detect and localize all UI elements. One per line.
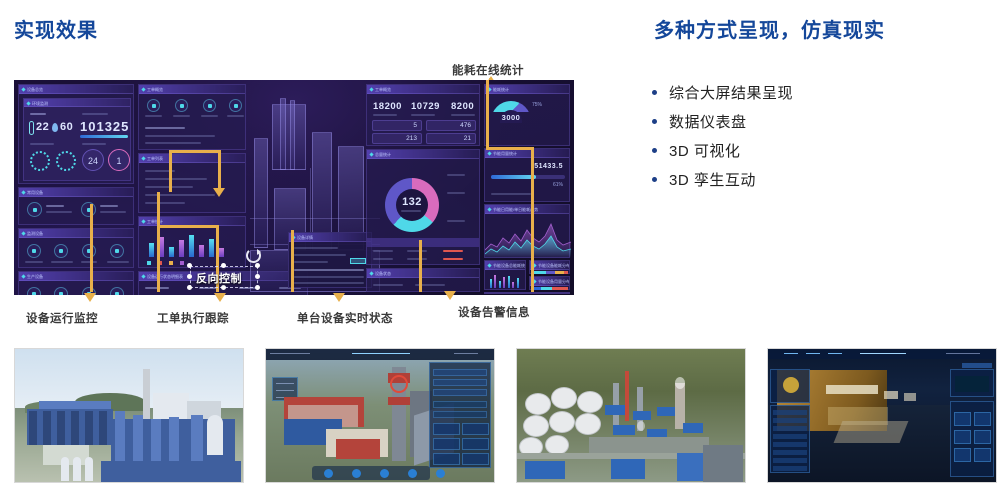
subtable-cell — [407, 250, 427, 252]
refresh-icon[interactable] — [246, 248, 261, 263]
twin-title — [352, 353, 410, 354]
thumbnail-aerial-refinery[interactable] — [516, 348, 746, 483]
subtable-cell — [373, 258, 393, 260]
left-list-panel[interactable] — [770, 405, 810, 473]
plant-silo — [207, 415, 223, 455]
panel-production-devices[interactable]: 生产设备 — [18, 271, 134, 295]
panel-row — [773, 434, 807, 439]
donut-center-label — [401, 210, 421, 212]
list-item: 数据仪表盘 — [652, 107, 982, 136]
plant-structure — [71, 411, 79, 445]
progress-label — [491, 193, 531, 195]
callout-line-1 — [90, 204, 93, 292]
factory-roof — [336, 439, 380, 459]
panel-title: 节能用量统计 — [485, 149, 569, 158]
panel-title: 节能设备能耗分布 — [530, 261, 569, 270]
chart-bar — [499, 281, 501, 288]
panel-row — [773, 466, 807, 471]
model-pipe — [250, 218, 380, 219]
donut-legend — [447, 220, 465, 222]
panel-workorder-list[interactable]: 工单列表 — [138, 153, 246, 213]
chart-bar — [179, 240, 184, 257]
kpi-label — [451, 114, 475, 116]
storage-tank — [551, 387, 577, 409]
nav-icon[interactable] — [324, 469, 333, 478]
panel-title: 总量统计 — [367, 150, 479, 159]
toolbar-button[interactable] — [962, 363, 992, 368]
page-title-right: 多种方式呈现，仿真现实 — [654, 14, 885, 43]
device-label — [107, 261, 129, 263]
gauge-b-value: 1 — [108, 149, 130, 171]
stat-chip[interactable]: 476 — [426, 120, 476, 131]
model-tower — [254, 138, 268, 248]
process-unit — [657, 407, 675, 416]
device-icon[interactable] — [110, 244, 124, 258]
camera-tile[interactable] — [974, 430, 991, 444]
menu-item — [276, 390, 294, 391]
energy-gauge-percent: 75% — [532, 102, 542, 108]
chart-bar — [494, 275, 496, 288]
bullet-label: 数据仪表盘 — [669, 111, 747, 132]
stack-segment — [555, 271, 564, 274]
selection-handle[interactable] — [255, 263, 260, 268]
panel-title: 监测设备 — [19, 229, 133, 238]
plant-column — [191, 415, 203, 467]
nav-tab[interactable] — [784, 353, 798, 354]
panel-title: 工单概览 — [139, 85, 245, 94]
callout-arrowhead-reverse — [213, 188, 225, 197]
panel-order-kpis[interactable]: 工单概览 18200 10729 8200 5 476 213 21 — [366, 84, 480, 146]
callout-arrowhead-4 — [444, 291, 456, 300]
camera-tile[interactable] — [954, 448, 971, 462]
process-unit — [683, 423, 703, 433]
stack-segment — [533, 271, 546, 274]
twin-bottom-nav[interactable] — [312, 466, 431, 480]
steam-plume — [675, 377, 685, 389]
storage-tank — [545, 435, 569, 455]
status-ring-icon — [30, 151, 50, 171]
nav-tab[interactable] — [828, 353, 842, 354]
left-info-panel[interactable] — [770, 369, 810, 403]
stat-value: 21 — [464, 135, 471, 142]
bullet-dot-icon — [652, 177, 657, 182]
plant-structure — [29, 411, 37, 445]
camera-tile[interactable] — [954, 430, 971, 444]
callout-label-1: 设备运行监控 — [26, 310, 98, 326]
callout-line-3a — [157, 192, 160, 292]
selection-handle[interactable] — [187, 263, 192, 268]
tooltip-table-row — [294, 276, 364, 278]
panel-subtitle: 环境监测 — [24, 99, 130, 107]
panel-title: 节能日用能/单日能耗趋势 — [485, 205, 569, 214]
storage-tank — [525, 393, 551, 415]
flare-stack — [625, 371, 629, 421]
plant-structure — [101, 461, 241, 483]
panel-row — [433, 379, 487, 386]
device-icon[interactable] — [27, 244, 41, 258]
storage-tank — [575, 413, 601, 435]
kpi-label — [411, 114, 435, 116]
stack-segment — [533, 287, 541, 290]
panel-row — [773, 418, 807, 423]
panel-title: 工单概览 — [367, 85, 479, 94]
order-icon[interactable] — [175, 99, 188, 112]
callout-label-2: 工单执行跟踪 — [157, 310, 229, 326]
list-row — [145, 178, 207, 180]
kpi-value: 18200 — [373, 101, 402, 112]
spacer3 — [484, 292, 570, 294]
panel-device-overview[interactable]: 设备总览 环境监测 22 60 101325 24 — [18, 84, 134, 184]
progress-percent: 61% — [553, 182, 563, 188]
device-icon[interactable] — [82, 244, 96, 258]
panel-row — [773, 450, 807, 455]
device-icon[interactable] — [54, 244, 68, 258]
model-building — [290, 100, 295, 170]
plant-structure — [57, 411, 65, 445]
ramp — [834, 421, 909, 443]
selection-handle[interactable] — [255, 274, 260, 279]
panel-energy-trend[interactable]: 节能日用能/单日能耗趋势 — [484, 204, 570, 258]
chart-bar — [219, 248, 224, 257]
callout-arrowhead-1 — [84, 293, 96, 302]
bullet-dot-icon — [652, 119, 657, 124]
process-unit — [605, 405, 625, 415]
chart-bar — [508, 276, 510, 288]
dashboard-canvas: 设备总览 环境监测 22 60 101325 24 — [14, 80, 574, 295]
panel-workorder-overview[interactable]: 工单概览 — [138, 84, 246, 150]
panel-row — [433, 369, 487, 376]
panel-title: 设备状态 — [367, 269, 479, 278]
menu-item — [276, 383, 294, 384]
window-light — [904, 393, 916, 401]
nav-tab[interactable] — [806, 353, 820, 354]
chart-bar — [512, 282, 514, 288]
panel-row — [773, 426, 807, 431]
pressure-value: 101325 — [80, 119, 129, 134]
bullet-label: 3D 可视化 — [669, 140, 740, 161]
plant-silo — [61, 457, 69, 481]
plant-silo — [85, 457, 93, 481]
label-line — [82, 113, 108, 115]
order-icon[interactable] — [147, 99, 160, 112]
plant-column — [169, 417, 179, 467]
nav-icon[interactable] — [352, 469, 361, 478]
tooltip-line — [294, 254, 346, 256]
energy-gauge-value: 3000 — [494, 113, 528, 122]
callout-line-2c — [218, 150, 221, 190]
device-label — [81, 261, 97, 263]
panel-kpi — [462, 423, 489, 435]
callout-label-4: 设备告警信息 — [458, 304, 530, 320]
panel-workorder-chart[interactable]: 工单统计 — [138, 216, 246, 268]
panel-extra-stats[interactable]: 设备状态 — [366, 268, 480, 292]
panel-kpi — [433, 438, 460, 450]
thumbnail-digital-twin-factory[interactable] — [265, 348, 495, 483]
stack-segment — [546, 271, 555, 274]
callout-line-2b — [169, 150, 221, 153]
model-info-tooltip: 设备详情 — [288, 232, 372, 288]
subtable-header — [367, 238, 479, 247]
device-label — [25, 261, 43, 263]
order-label — [201, 115, 218, 117]
list-item: 3D 可视化 — [652, 136, 982, 165]
panel-energy-stack-b[interactable]: 节能设备用量分布 — [529, 276, 570, 290]
chart-bar — [169, 247, 174, 257]
chart-bar — [490, 279, 492, 288]
plant-structure — [99, 411, 107, 445]
panel-title: 常用设备 — [19, 188, 133, 197]
slide-root: 实现效果 多种方式呈现，仿真现实 综合大屏结果呈现 数据仪表盘 3D 可视化 3… — [0, 0, 1000, 498]
list-row — [145, 194, 215, 196]
legend-swatch — [180, 261, 184, 265]
camera-grid-panel[interactable] — [950, 401, 994, 477]
tooltip-table-header — [294, 269, 364, 271]
selection-handle[interactable] — [255, 285, 260, 290]
panel-kpi — [433, 453, 460, 465]
page-title-left: 实现效果 — [14, 14, 98, 43]
menu-label — [270, 353, 310, 354]
bullet-label: 3D 孪生互动 — [669, 169, 756, 190]
device-label — [46, 205, 64, 207]
device-label — [100, 205, 118, 207]
model-building — [272, 104, 306, 170]
tooltip-button[interactable] — [350, 258, 366, 264]
status-ring-icon — [56, 151, 76, 171]
panel-row — [433, 411, 487, 418]
camera-tile[interactable] — [974, 448, 991, 462]
twin-title — [860, 353, 906, 354]
status-label — [946, 353, 980, 354]
panel-energy-progress[interactable]: 节能用量统计 51433.5 61% — [484, 148, 570, 202]
tooltip-table-row — [294, 282, 364, 284]
callout-label-3: 单台设备实时状态 — [297, 310, 393, 326]
order-icon[interactable] — [203, 99, 216, 112]
callout-line-6a — [486, 80, 489, 150]
kpi-label — [373, 114, 397, 116]
stat-value: 5 — [413, 122, 417, 129]
droplet-icon — [52, 123, 58, 132]
order-label — [173, 115, 190, 117]
radar-view — [955, 376, 989, 392]
order-label — [227, 115, 244, 117]
panel-energy-stack-a[interactable]: 节能设备能耗分布 — [529, 260, 570, 274]
donut-legend — [447, 192, 465, 194]
process-unit — [633, 411, 651, 420]
device-icon[interactable] — [27, 202, 42, 217]
stat-value: 213 — [406, 135, 417, 142]
callout-line-5 — [419, 240, 422, 292]
panel-kpi — [433, 423, 460, 435]
panel-environment: 环境监测 22 60 101325 24 1 — [23, 98, 131, 181]
panel-title: 节能设备用量分布 — [530, 277, 569, 286]
subtable-cell — [443, 250, 463, 252]
order-label — [145, 115, 162, 117]
subtable-cell — [443, 258, 463, 260]
panel-row — [433, 389, 487, 396]
donut-center-value: 132 — [394, 196, 430, 208]
order-row — [145, 127, 185, 129]
panel-row — [773, 458, 807, 463]
donut-legend — [447, 174, 465, 176]
device-icon[interactable] — [54, 287, 68, 295]
process-unit — [613, 425, 635, 435]
order-icon[interactable] — [229, 99, 242, 112]
device-sublabel — [100, 211, 126, 213]
stack-segment — [564, 271, 568, 274]
storage-tank — [577, 391, 603, 413]
order-row — [145, 142, 201, 144]
progress-fill — [491, 175, 536, 179]
tower-band — [388, 397, 410, 405]
legend-swatch — [169, 261, 173, 265]
alert-marker-icon[interactable] — [390, 375, 408, 393]
panel-energy-bars[interactable]: 节能设备总能耗统计 — [484, 260, 526, 290]
bullet-label: 综合大屏结果呈现 — [669, 82, 793, 103]
legend-swatch — [147, 261, 151, 265]
chart-bar — [189, 235, 194, 257]
selected-element-label: 反向控制 — [196, 270, 242, 286]
panel-kpi — [462, 438, 489, 450]
device-icon[interactable] — [81, 202, 96, 217]
plant-column — [133, 415, 143, 467]
twin-side-panel[interactable] — [429, 362, 491, 468]
stack-segment — [541, 287, 553, 290]
label-line — [30, 143, 54, 145]
tooltip-title: 设备详情 — [289, 233, 371, 242]
temperature-value: 22 — [36, 121, 49, 133]
chimney — [143, 369, 150, 423]
list-item: 综合大屏结果呈现 — [652, 78, 982, 107]
panel-row — [773, 442, 807, 447]
panel-title: 工单列表 — [139, 154, 245, 163]
callout-line-4 — [291, 230, 294, 292]
thumbnail-chemical-plant[interactable] — [14, 348, 244, 483]
device-icon[interactable] — [110, 287, 124, 295]
bullet-dot-icon — [652, 90, 657, 95]
plant-column — [151, 419, 161, 467]
panel-row — [433, 401, 487, 408]
kpi-value: 10729 — [411, 101, 440, 112]
panel-common-devices[interactable]: 常用设备 — [18, 187, 134, 225]
badge-icon — [783, 377, 799, 393]
chart-bar — [503, 277, 505, 288]
list-item: 3D 孪生互动 — [652, 165, 982, 194]
tooltip-line — [294, 261, 328, 263]
humidity-value: 60 — [60, 121, 73, 133]
stack-segment — [552, 287, 568, 290]
panel-title: 生产设备 — [19, 272, 133, 281]
panel-title: 能耗统计 — [485, 85, 569, 94]
camera-tile[interactable] — [974, 412, 991, 426]
trend-area-chart — [485, 216, 571, 258]
stat-line — [373, 284, 403, 286]
chart-bar — [149, 243, 154, 257]
storage-tank — [549, 411, 575, 433]
feature-bullet-list: 综合大屏结果呈现 数据仪表盘 3D 可视化 3D 孪生互动 — [652, 78, 982, 194]
kpi-value: 8200 — [451, 101, 474, 112]
pressure-bar — [80, 135, 128, 138]
nav-icon[interactable] — [408, 469, 417, 478]
plant-structure — [85, 411, 93, 445]
dashboard-screenshot: 设备总览 环境监测 22 60 101325 24 — [14, 80, 574, 295]
panel-energy-overview[interactable]: 能耗统计 3000 75% — [484, 84, 570, 146]
chart-bar — [199, 245, 204, 257]
thermometer-icon — [29, 121, 34, 135]
panel-row — [773, 410, 807, 415]
progress-track — [491, 175, 565, 179]
order-row — [145, 135, 215, 137]
window-light — [884, 391, 898, 399]
window-light — [826, 385, 878, 394]
twin-top-bar — [768, 349, 996, 359]
camera-tile[interactable] — [954, 412, 971, 426]
label-line — [30, 113, 46, 115]
selection-handle[interactable] — [221, 263, 226, 268]
selection-handle[interactable] — [187, 285, 192, 290]
plant-structure — [703, 445, 743, 483]
storage-tank — [523, 415, 549, 437]
callout-arrowhead-3 — [333, 293, 345, 302]
thumbnail-indoor-night-twin[interactable] — [767, 348, 997, 483]
bullet-dot-icon — [652, 148, 657, 153]
subtable-cell — [373, 250, 393, 252]
nav-icon[interactable] — [436, 469, 445, 478]
panel-kpi — [462, 453, 489, 465]
stat-chip[interactable]: 213 — [372, 133, 422, 144]
panel-total-statistics[interactable]: 总量统计 132 — [366, 149, 480, 265]
label-line — [82, 143, 106, 145]
chart-bar — [517, 278, 519, 288]
plant-column — [115, 411, 125, 467]
callout-line-2a — [169, 150, 172, 192]
callout-line-6c — [531, 147, 534, 292]
model-building — [280, 98, 286, 170]
plant-structure — [43, 411, 51, 445]
panel-monitor-devices[interactable]: 监测设备 — [18, 228, 134, 268]
nav-icon[interactable] — [380, 469, 389, 478]
device-label — [51, 261, 73, 263]
panel-title: 节能设备总能耗统计 — [485, 261, 525, 270]
chart-bar — [209, 239, 214, 257]
tooltip-line — [294, 247, 338, 249]
twin-top-bar — [266, 349, 494, 360]
stat-chip[interactable]: 5 — [372, 120, 422, 131]
plant-silo — [73, 457, 81, 481]
stat-value: 476 — [460, 122, 471, 129]
status-label — [454, 353, 478, 354]
callout-line-6b — [486, 147, 534, 150]
list-row — [145, 202, 185, 204]
pipe-rack — [589, 437, 709, 453]
process-unit — [611, 459, 645, 479]
steam-plume — [637, 421, 645, 431]
callout-arrowhead-2 — [214, 293, 226, 302]
stat-chip[interactable]: 21 — [426, 133, 476, 144]
device-icon[interactable] — [27, 287, 41, 295]
progress-value: 51433.5 — [534, 163, 563, 170]
gauge-a-value: 24 — [82, 149, 104, 171]
callout-line-3b — [157, 225, 219, 228]
process-unit — [525, 461, 565, 479]
device-sublabel — [46, 211, 72, 213]
radar-panel[interactable] — [950, 369, 994, 397]
panel-title: 设备总览 — [19, 85, 133, 94]
subtable-cell — [407, 258, 427, 260]
selection-handle[interactable] — [187, 274, 192, 279]
